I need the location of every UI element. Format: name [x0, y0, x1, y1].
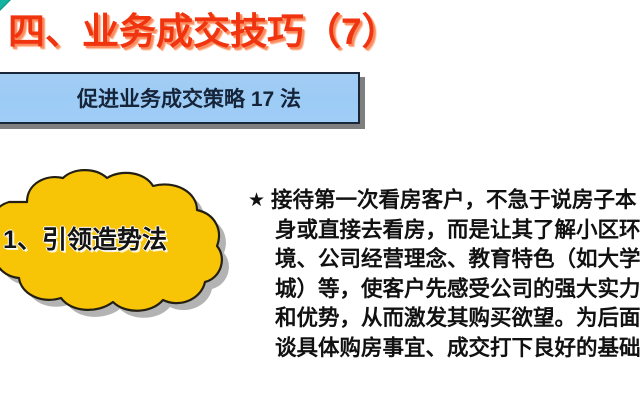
cloud-callout-label: 1、引领造势法 — [0, 220, 196, 256]
slide-title: 四、业务成交技巧（7） — [8, 1, 399, 55]
section-banner-label: 促进业务成交策略 17 法 — [0, 83, 358, 113]
bullet-line-4: 城）等，使客户先感受公司的强大实力 — [248, 275, 636, 305]
slide-canvas: 四、业务成交技巧（7） 促进业务成交策略 17 法 1、引领造势法 ★接待第一次… — [0, 0, 640, 407]
bullet-paragraph: ★接待第一次看房客户，不急于说房子本 身或直接去看房，而是让其了解小区环 境、公… — [248, 186, 636, 363]
section-banner: 促进业务成交策略 17 法 — [0, 72, 360, 124]
bullet-line-6: 谈具体购房事宜、成交打下良好的基础。 — [248, 334, 636, 364]
star-bullet-icon: ★ — [248, 186, 265, 216]
bullet-line-3: 境、公司经营理念、教育特色（如大学 — [248, 245, 636, 275]
bullet-line-1: ★接待第一次看房客户，不急于说房子本 — [248, 186, 636, 216]
bullet-line-2: 身或直接去看房，而是让其了解小区环 — [248, 216, 636, 246]
bullet-line-5: 和优势，从而激发其购买欲望。为后面 — [248, 304, 636, 334]
bullet-line-1-text: 接待第一次看房客户，不急于说房子本 — [271, 188, 637, 212]
